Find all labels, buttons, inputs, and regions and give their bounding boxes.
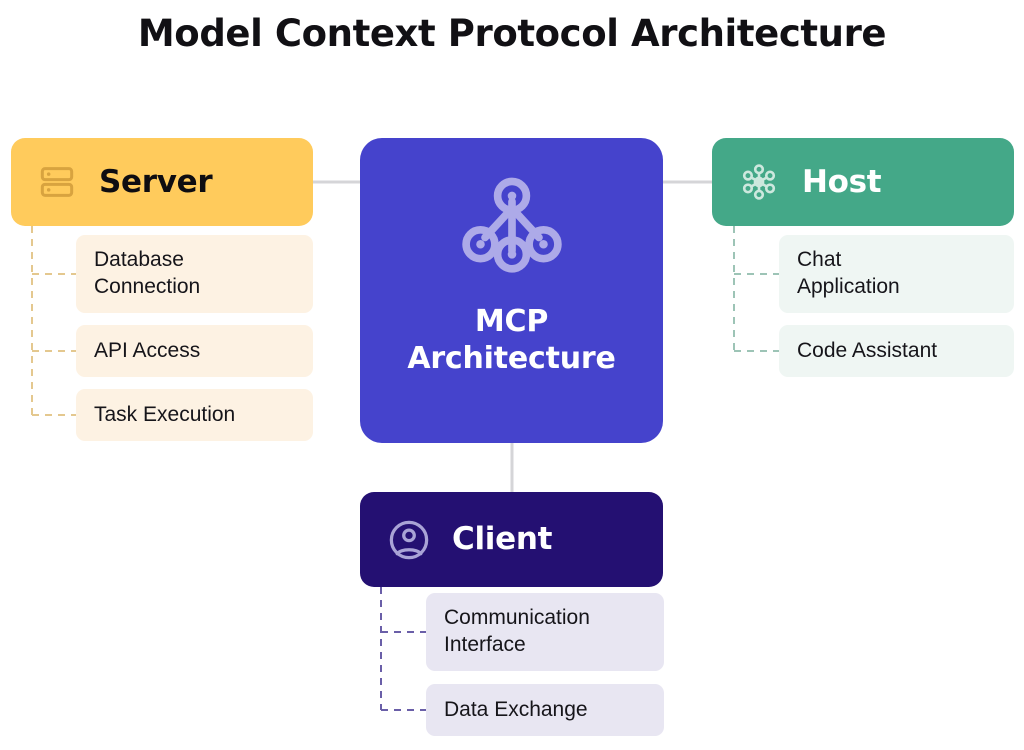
node-label-host: Host (802, 167, 881, 198)
page-title: Model Context Protocol Architecture (0, 12, 1024, 55)
sub-item-host-chat-application[interactable]: Chat Application (779, 235, 1014, 313)
sub-item-server-api-access[interactable]: API Access (76, 325, 313, 377)
sub-item-label: Code Assistant (797, 338, 937, 365)
node-label-client: Client (452, 524, 552, 555)
node-label-server: Server (99, 167, 212, 198)
node-card-client[interactable]: Client (360, 492, 663, 587)
sub-item-host-code-assistant[interactable]: Code Assistant (779, 325, 1014, 377)
sub-item-server-database-connection[interactable]: Database Connection (76, 235, 313, 313)
sub-item-label: API Access (94, 338, 200, 365)
diagram-root: Model Context Protocol Architecture Serv… (0, 0, 1024, 750)
node-card-mcp-architecture[interactable]: MCP Architecture (360, 138, 663, 443)
sub-item-label: Database Connection (94, 247, 200, 301)
node-card-server[interactable]: Server (11, 138, 313, 226)
center-node-label: MCP Architecture (407, 304, 615, 377)
sub-item-client-communication-interface[interactable]: Communication Interface (426, 593, 664, 671)
network-hierarchy-icon (458, 170, 566, 278)
hub-network-icon (738, 161, 780, 203)
user-circle-icon (386, 517, 432, 563)
sub-item-server-task-execution[interactable]: Task Execution (76, 389, 313, 441)
sub-item-client-data-exchange[interactable]: Data Exchange (426, 684, 664, 736)
sub-item-label: Data Exchange (444, 697, 588, 724)
node-card-host[interactable]: Host (712, 138, 1014, 226)
sub-item-label: Chat Application (797, 247, 900, 301)
server-rack-icon (37, 162, 77, 202)
sub-item-label: Task Execution (94, 402, 235, 429)
sub-item-label: Communication Interface (444, 605, 590, 659)
